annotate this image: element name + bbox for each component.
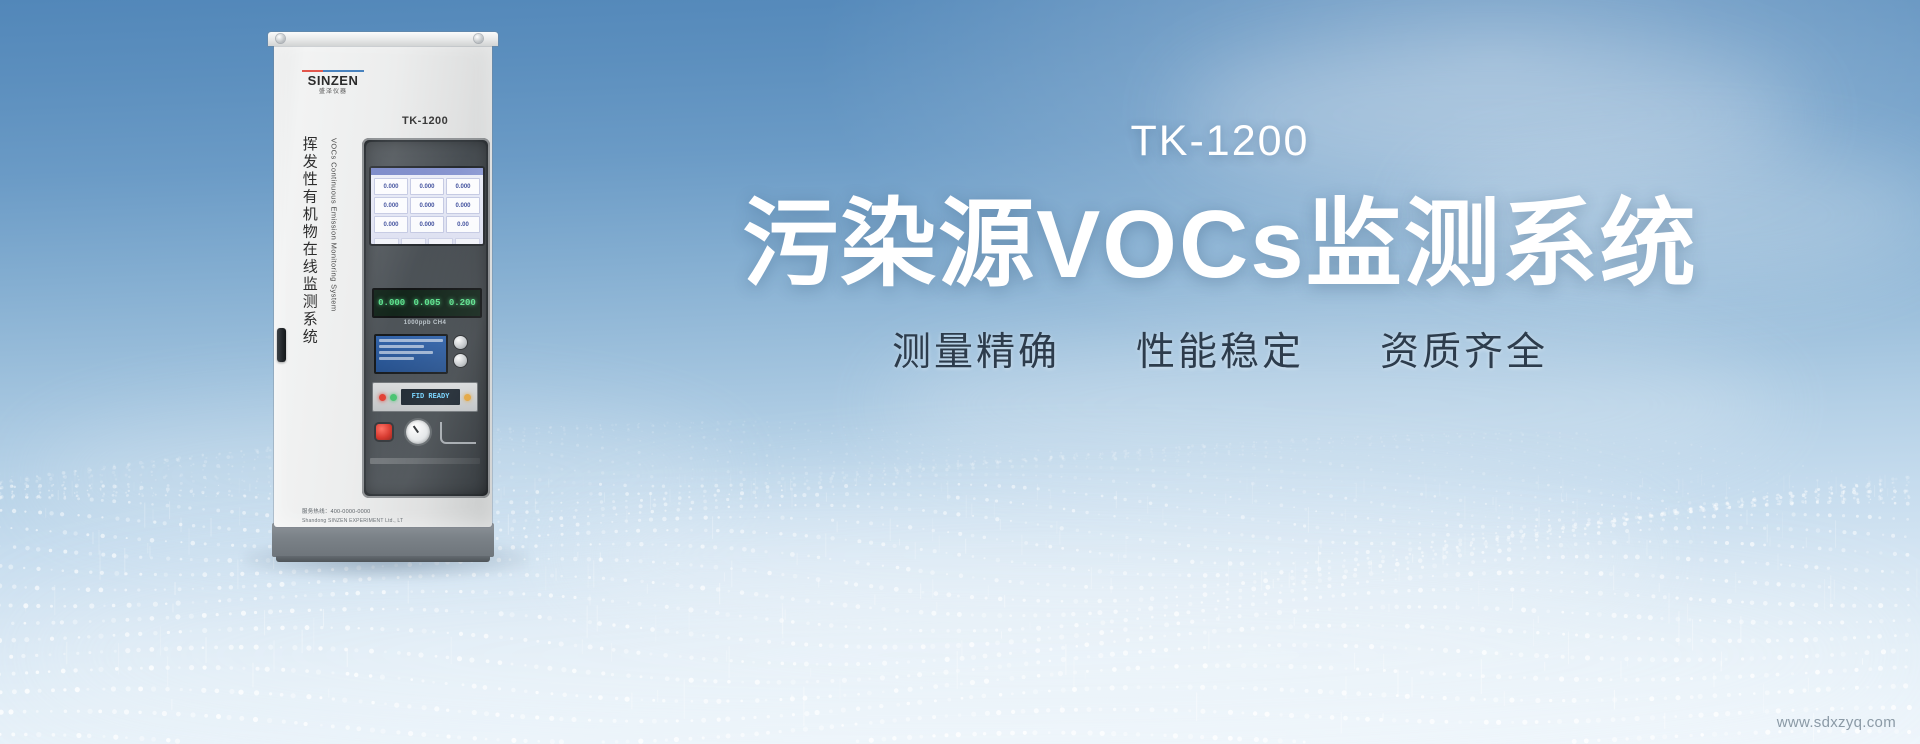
green-readout-value: 0.000 [378,299,405,308]
brand-logo-text: SINZEN [302,74,364,87]
hmi-titlebar [371,168,483,175]
cabinet-base-plinth [272,523,494,557]
hmi-status-chip [374,238,399,246]
cabinet-door-handle[interactable] [277,328,286,362]
cabinet-footer-plate: 服务热线：400-0000-0000 Shandong SINZEN EXPER… [302,508,472,525]
footer-plate-line-1: 服务热线：400-0000-0000 [302,508,472,517]
hmi-reading-grid: 0.000 0.000 0.000 0.000 0.000 0.000 0.00… [371,175,483,236]
display-line [379,357,414,360]
hmi-reading-cell: 0.000 [374,197,408,214]
hero-feature-item: 测量精确 [892,333,1060,372]
product-cabinet-photo: SINZEN 盛泽仪器 TK-1200 挥发性有机物在线监测系统 VOCs Co… [262,18,507,583]
cabinet-body: SINZEN 盛泽仪器 TK-1200 挥发性有机物在线监测系统 VOCs Co… [274,40,492,527]
cabinet-vertical-english-text: VOCs Continuous Emission Monitoring Syst… [330,138,338,312]
analyzer-module-display [374,334,448,374]
display-line [379,351,433,354]
green-readout-caption: 1000ppb CH4 [372,320,478,326]
status-led-green [390,394,397,401]
hmi-reading-cell: 0.000 [446,197,480,214]
gas-tubing [440,422,476,444]
emergency-stop-button[interactable] [376,424,392,440]
green-readout-value: 0.200 [449,299,476,308]
cabinet-lift-bolt-left [276,34,285,43]
hero-title: 污染源VOCs监测系统 [560,193,1880,297]
brand-accent-bar [302,70,364,72]
hmi-reading-cell: 0.000 [446,178,480,195]
hero-model-number: TK-1200 [560,120,1880,163]
panel-readout: FID READY [401,389,460,405]
hmi-touchscreen[interactable]: 0.000 0.000 0.000 0.000 0.000 0.000 0.00… [369,166,485,246]
site-watermark: www.sdxzyq.com [1777,715,1896,730]
hmi-status-chip [401,238,426,246]
module-knob-group[interactable] [454,336,467,367]
hmi-reading-cell: 0.00 [446,216,480,233]
brand-logo-subtext: 盛泽仪器 [302,89,364,95]
control-knob[interactable] [454,336,467,349]
status-led-red [379,394,386,401]
hmi-reading-cell: 0.000 [410,197,444,214]
cabinet-vertical-text-strip: 挥发性有机物在线监测系统 VOCs Continuous Emission Mo… [296,136,362,436]
instrument-bay: 0.000 0.000 0.000 0.000 0.000 0.000 0.00… [362,138,490,498]
cabinet-lift-bolt-right [474,34,483,43]
green-led-readout: 0.000 0.005 0.200 [372,288,482,318]
hero-feature-list: 测量精确 性能稳定 资质齐全 [560,333,1880,372]
hmi-status-row [371,236,483,246]
display-line [379,339,443,342]
status-led-amber [464,394,471,401]
cabinet-vertical-chinese-text: 挥发性有机物在线监测系统 [298,136,320,346]
hero-feature-item: 资质齐全 [1380,333,1548,372]
pressure-gauge [406,420,430,444]
brand-logo: SINZEN 盛泽仪器 [302,74,364,95]
cabinet-model-label: TK-1200 [402,116,448,127]
bay-divider-strip [370,458,480,464]
product-hero-banner: SINZEN 盛泽仪器 TK-1200 挥发性有机物在线监测系统 VOCs Co… [0,0,1920,744]
footer-plate-line-2: Shandong SINZEN EXPERIMENT Ltd., LT [302,517,472,525]
hero-text-block: TK-1200 污染源VOCs监测系统 测量精确 性能稳定 资质齐全 [560,120,1880,372]
hmi-status-chip [428,238,453,246]
display-line [379,345,424,348]
hmi-reading-cell: 0.000 [374,178,408,195]
hmi-status-chip [455,238,480,246]
cabinet-top-cap [268,32,498,46]
hmi-reading-cell: 0.000 [410,178,444,195]
control-knob[interactable] [454,354,467,367]
analyzer-control-panel: FID READY [372,382,478,412]
hero-feature-item: 性能稳定 [1136,333,1304,372]
green-readout-value: 0.005 [413,299,440,308]
hmi-reading-cell: 0.000 [374,216,408,233]
hmi-reading-cell: 0.000 [410,216,444,233]
